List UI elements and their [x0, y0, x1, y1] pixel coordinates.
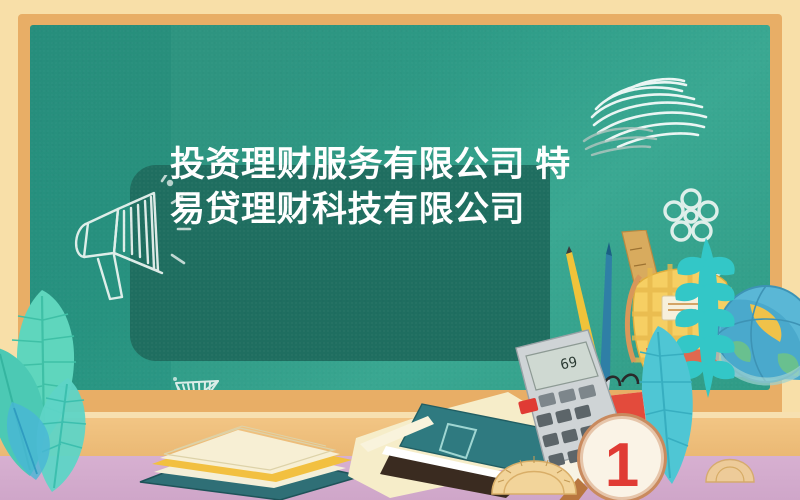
svg-text:1: 1 — [605, 431, 639, 500]
headline-line-2: 易贷理财科技有限公司 — [170, 188, 640, 233]
headline-line-1: 投资理财服务有限公司 特 — [170, 143, 640, 188]
protractor-icon — [706, 460, 754, 483]
protractor-left-icon — [484, 428, 604, 498]
banner-canvas: 投资理财服务有限公司 特 易贷理财科技有限公司 — [0, 0, 800, 500]
